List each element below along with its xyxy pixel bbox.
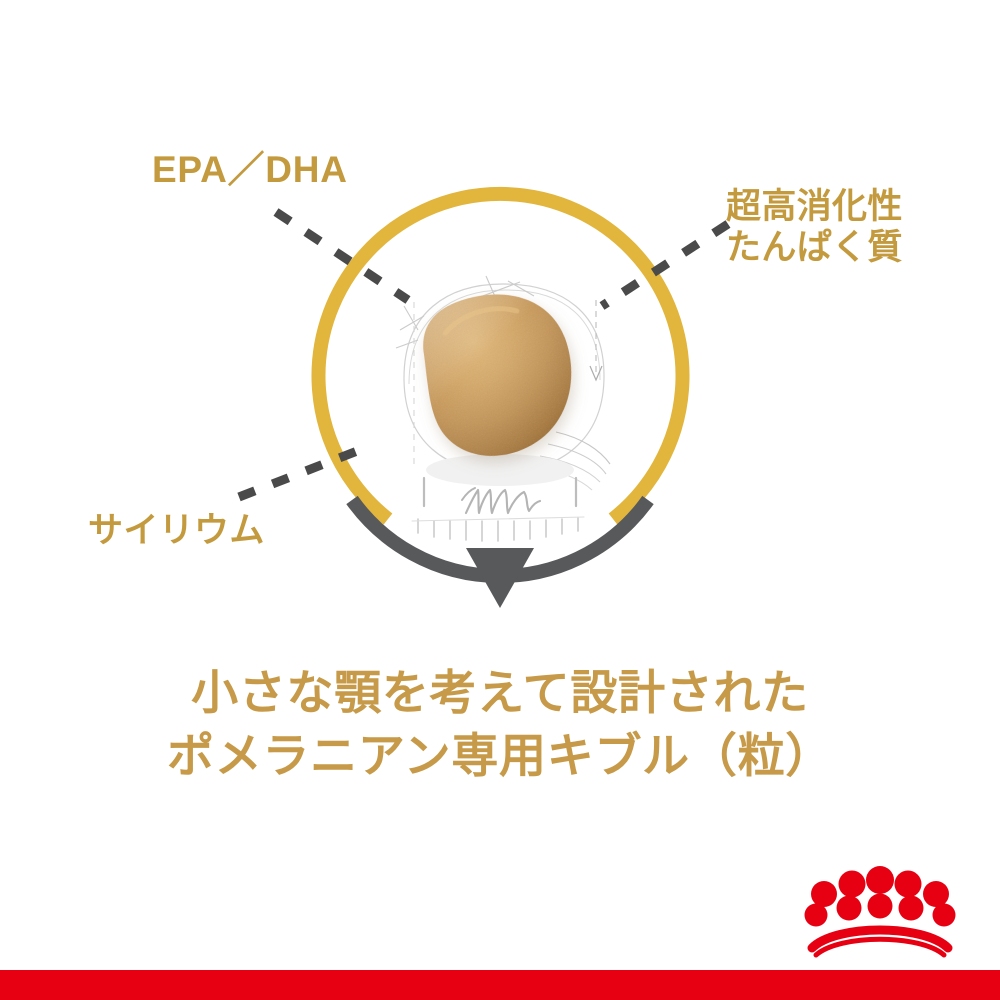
- kibble-illustration: [416, 285, 582, 464]
- royal-canin-crown-logo: [800, 860, 960, 958]
- infographic-page: EPA／DHA 超高消化性 たんぱく質 サイリウム 小さな顎を考えて設計された …: [0, 0, 1000, 1000]
- caption-line-2: ポメラニアン専用キブル（粒）: [0, 725, 1000, 788]
- crown-logo-svg: [800, 860, 960, 958]
- callout-label-psyllium: サイリウム: [88, 510, 265, 551]
- callout-label-epa-dha: EPA／DHA: [152, 148, 348, 192]
- scale-label-1cm: [462, 488, 540, 513]
- callout-label-protein: 超高消化性 たんぱく質: [726, 186, 903, 269]
- scale-ruler-sketch: [412, 478, 584, 541]
- kibble-diagram: EPA／DHA 超高消化性 たんぱく質 サイリウム: [0, 0, 1000, 650]
- caption-line-1: 小さな顎を考えて設計された: [0, 662, 1000, 725]
- bottom-red-bar: [0, 970, 1000, 1000]
- crown-dots: [805, 866, 956, 927]
- main-caption: 小さな顎を考えて設計された ポメラニアン専用キブル（粒）: [0, 662, 1000, 787]
- diagram-svg: [0, 0, 1000, 650]
- crown-arcs: [812, 930, 948, 955]
